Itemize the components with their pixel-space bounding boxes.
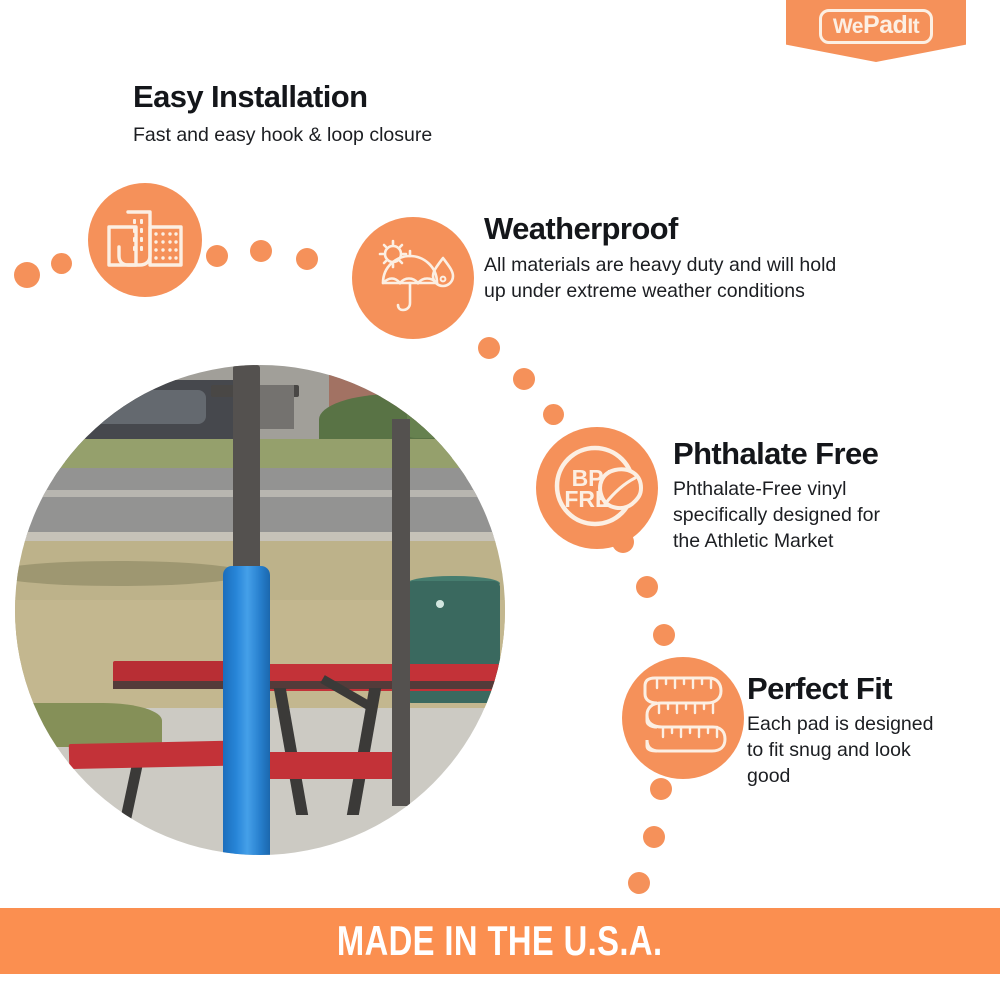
connector-dot	[643, 826, 665, 848]
logo-frame: We Pad It	[819, 9, 933, 44]
connector-dot	[513, 368, 535, 390]
feature-description: Phthalate-Free vinyl specifically design…	[673, 477, 880, 555]
feature-description-line: good	[747, 764, 933, 790]
feature-description: All materials are heavy duty and will ho…	[484, 253, 836, 305]
feature-description-line: the Athletic Market	[673, 529, 880, 555]
product-photo-scene	[15, 365, 505, 855]
made-in-usa-banner: MADE IN THE U.S.A.	[0, 908, 1000, 974]
feature-description-line: Phthalate-Free vinyl	[673, 477, 880, 503]
connector-dot	[628, 872, 650, 894]
feature-description-line: All materials are heavy duty and will ho…	[484, 253, 836, 279]
measuring-tape-icon	[622, 657, 744, 779]
connector-dot	[14, 262, 40, 288]
feature-title: Easy Installation	[133, 80, 432, 114]
logo-text-it: It	[907, 16, 919, 37]
feature-title: Weatherproof	[484, 212, 836, 246]
feature-block-perfect-fit: Perfect Fit Each pad is designed to fit …	[747, 672, 933, 790]
feature-description-line: specifically designed for	[673, 503, 880, 529]
brand-logo-badge: We Pad It	[786, 0, 966, 62]
feature-description: Each pad is designed to fit snug and loo…	[747, 712, 933, 790]
feature-title: Perfect Fit	[747, 672, 933, 706]
feature-block-weatherproof: Weatherproof All materials are heavy dut…	[484, 212, 836, 305]
hook-and-loop-icon	[88, 183, 202, 297]
connector-dot	[296, 248, 318, 270]
infographic-canvas: We Pad It Easy Installation Fast and eas…	[0, 0, 1000, 987]
feature-description-line: up under extreme weather conditions	[484, 279, 836, 305]
connector-dot	[250, 240, 272, 262]
connector-dot	[636, 576, 658, 598]
connector-dot	[478, 337, 500, 359]
logo-text-pad: Pad	[863, 13, 907, 38]
bpa-free-leaf-icon: BPA FREE	[536, 427, 658, 549]
feature-description-line: Each pad is designed	[747, 712, 933, 738]
connector-dot	[51, 253, 72, 274]
connector-dot	[653, 624, 675, 646]
product-photo	[15, 365, 505, 855]
connector-dot	[543, 404, 564, 425]
feature-block-phthalate-free: Phthalate Free Phthalate-Free vinyl spec…	[673, 437, 880, 555]
connector-dot	[650, 778, 672, 800]
feature-description: Fast and easy hook & loop closure	[133, 123, 432, 149]
connector-dot	[206, 245, 228, 267]
feature-title: Phthalate Free	[673, 437, 880, 471]
logo-text-we: We	[833, 16, 863, 37]
umbrella-sun-raindrop-icon	[352, 217, 474, 339]
feature-description-line: to fit snug and look	[747, 738, 933, 764]
feature-block-easy-installation: Easy Installation Fast and easy hook & l…	[133, 80, 432, 149]
made-in-usa-text: MADE IN THE U.S.A.	[337, 917, 663, 965]
